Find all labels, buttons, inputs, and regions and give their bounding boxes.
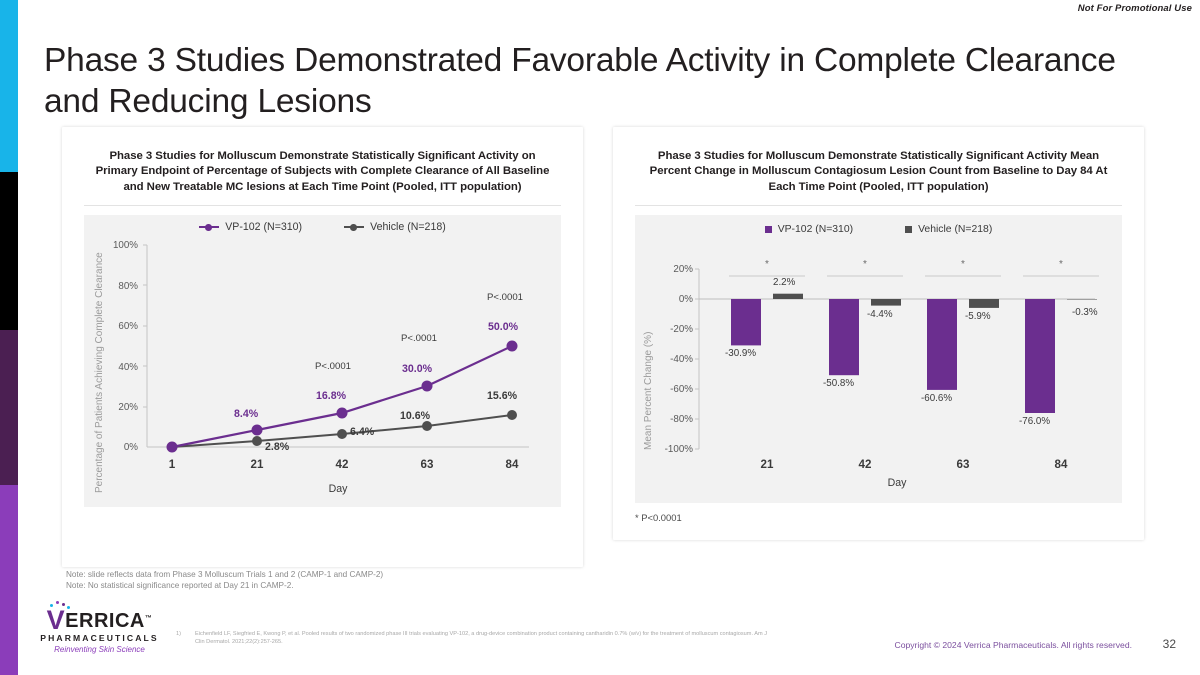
bar-x-tick-day84: 84 xyxy=(1041,458,1081,471)
vp102-label-day84: 50.0% xyxy=(488,321,518,333)
significance-marker-day21: * xyxy=(747,259,787,270)
logo-trademark: ™ xyxy=(145,615,153,622)
bar-chart-title-divider xyxy=(635,205,1122,206)
not-for-promotional-use-label: Not For Promotional Use xyxy=(1078,3,1192,14)
slide-title: Phase 3 Studies Demonstrated Favorable A… xyxy=(44,40,1174,122)
rail-segment-dark-purple xyxy=(0,330,18,485)
x-tick-day63: 63 xyxy=(407,458,447,471)
bar-chart-plot-area: VP-102 (N=310) Vehicle (N=218) Mean Perc… xyxy=(635,215,1122,503)
logo-wordmark: VERRICA™ xyxy=(47,608,153,632)
note-line-2: Note: No statistical significance report… xyxy=(66,581,383,592)
bar-x-tick-day21: 21 xyxy=(747,458,787,471)
bar-chart-title: Phase 3 Studies for Molluscum Demonstrat… xyxy=(613,127,1144,195)
rail-segment-black xyxy=(0,172,18,330)
bar-chart-panel: Phase 3 Studies for Molluscum Demonstrat… xyxy=(613,127,1144,540)
logo-tagline: Reinventing Skin Science xyxy=(32,645,167,654)
rail-segment-medium-purple xyxy=(0,485,18,675)
logo-dots-icon xyxy=(50,601,72,610)
reference-number: 1) xyxy=(176,630,181,646)
copyright-notice: Copyright © 2024 Verrica Pharmaceuticals… xyxy=(894,640,1132,650)
vehicle-bar-label-day84: -0.3% xyxy=(1072,307,1098,318)
vehicle-bar-label-day42: -4.4% xyxy=(867,309,893,320)
vehicle-label-day21: 2.8% xyxy=(265,441,289,453)
significance-marker-day42: * xyxy=(845,259,885,270)
logo-name: ERRICA xyxy=(65,610,145,632)
bar-x-tick-day42: 42 xyxy=(845,458,885,471)
page-number: 32 xyxy=(1163,637,1176,651)
x-tick-day1: 1 xyxy=(152,458,192,471)
slide-notes: Note: slide reflects data from Phase 3 M… xyxy=(66,570,383,591)
vp102-label-day42: 16.8% xyxy=(316,390,346,402)
p-value-day42: P<.0001 xyxy=(315,361,351,372)
vp102-label-day21: 8.4% xyxy=(234,408,258,420)
significance-marker-day84: * xyxy=(1041,259,1081,270)
p-value-day84: P<.0001 xyxy=(487,292,523,303)
bar-x-tick-day63: 63 xyxy=(943,458,983,471)
vp102-bar-label-day84: -76.0% xyxy=(1019,416,1050,427)
line-chart-title-divider xyxy=(84,205,561,206)
line-chart-plot-area: VP-102 (N=310) Vehicle (N=218) Percentag… xyxy=(84,215,561,507)
vehicle-label-day84: 15.6% xyxy=(487,390,517,402)
vp102-bar-label-day63: -60.6% xyxy=(921,393,952,404)
rail-segment-cyan xyxy=(0,0,18,172)
line-chart-panel: Phase 3 Studies for Molluscum Demonstrat… xyxy=(62,127,583,567)
line-chart-title: Phase 3 Studies for Molluscum Demonstrat… xyxy=(62,127,583,195)
vp102-bar-label-day21: -30.9% xyxy=(725,348,756,359)
significance-marker-day63: * xyxy=(943,259,983,270)
vehicle-label-day42: 6.4% xyxy=(350,426,374,438)
verrica-logo: VERRICA™ PHARMACEUTICALS Reinventing Ski… xyxy=(32,608,167,654)
slide-accent-rail xyxy=(0,0,18,675)
bar-chart-footnote: * P<0.0001 xyxy=(635,512,682,523)
line-chart-x-axis-title: Day xyxy=(147,483,529,495)
reference-text: Eichenfield LF, Siegfried E, Kwong P, et… xyxy=(195,630,776,646)
vehicle-bar-label-day63: -5.9% xyxy=(965,311,991,322)
note-line-1: Note: slide reflects data from Phase 3 M… xyxy=(66,570,383,581)
bar-chart-x-axis-title: Day xyxy=(699,477,1095,489)
x-tick-day42: 42 xyxy=(322,458,362,471)
p-value-day63: P<.0001 xyxy=(401,333,437,344)
vp102-label-day63: 30.0% xyxy=(402,363,432,375)
x-tick-day84: 84 xyxy=(492,458,532,471)
vehicle-bar-label-day21: 2.2% xyxy=(773,277,795,288)
reference-citation: 1) Eichenfield LF, Siegfried E, Kwong P,… xyxy=(176,630,776,646)
vp102-bar-label-day42: -50.8% xyxy=(823,378,854,389)
vehicle-label-day63: 10.6% xyxy=(400,410,430,422)
x-tick-day21: 21 xyxy=(237,458,277,471)
